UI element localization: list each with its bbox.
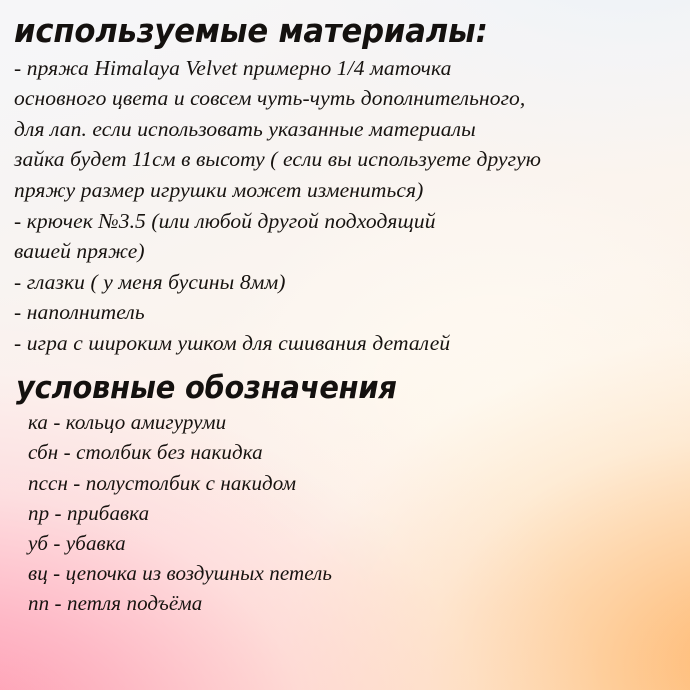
legend-entry: пп - петля подъёма — [28, 588, 676, 618]
materials-line: - наполнитель — [14, 297, 676, 328]
legend-entry: пр - прибавка — [28, 498, 676, 528]
materials-line: для лап. если использовать указанные мат… — [14, 114, 676, 145]
legend-section: условные обозначения ка - кольцо амигуру… — [14, 372, 676, 619]
materials-line: - глазки ( у меня бусины 8мм) — [14, 267, 676, 298]
legend-entry: ка - кольцо амигуруми — [28, 407, 676, 437]
materials-heading: используемые материалы: — [14, 14, 630, 49]
materials-section: используемые материалы: - пряжа Himalaya… — [14, 14, 676, 359]
legend-entry: сбн - столбик без накидка — [28, 437, 676, 467]
legend-entry: вц - цепочка из воздушных петель — [28, 558, 676, 588]
content-container: используемые материалы: - пряжа Himalaya… — [0, 0, 676, 619]
materials-line: - пряжа Himalaya Velvet примерно 1/4 мат… — [14, 53, 676, 84]
materials-line: - игра с широким ушком для сшивания дета… — [14, 328, 676, 359]
materials-line: зайка будет 11см в высоту ( если вы испо… — [14, 144, 676, 175]
pattern-info-page: используемые материалы: - пряжа Himalaya… — [0, 0, 690, 690]
materials-line: - крючек №3.5 (или любой другой подходящ… — [14, 206, 676, 237]
materials-line: основного цвета и совсем чуть-чуть допол… — [14, 83, 676, 114]
materials-line: вашей пряже) — [14, 236, 676, 267]
legend-entry: пссн - полустолбик с накидом — [28, 468, 676, 498]
materials-line: пряжу размер игрушки может измениться) — [14, 175, 676, 206]
legend-heading: условные обозначения — [16, 372, 630, 405]
legend-entry: уб - убавка — [28, 528, 676, 558]
